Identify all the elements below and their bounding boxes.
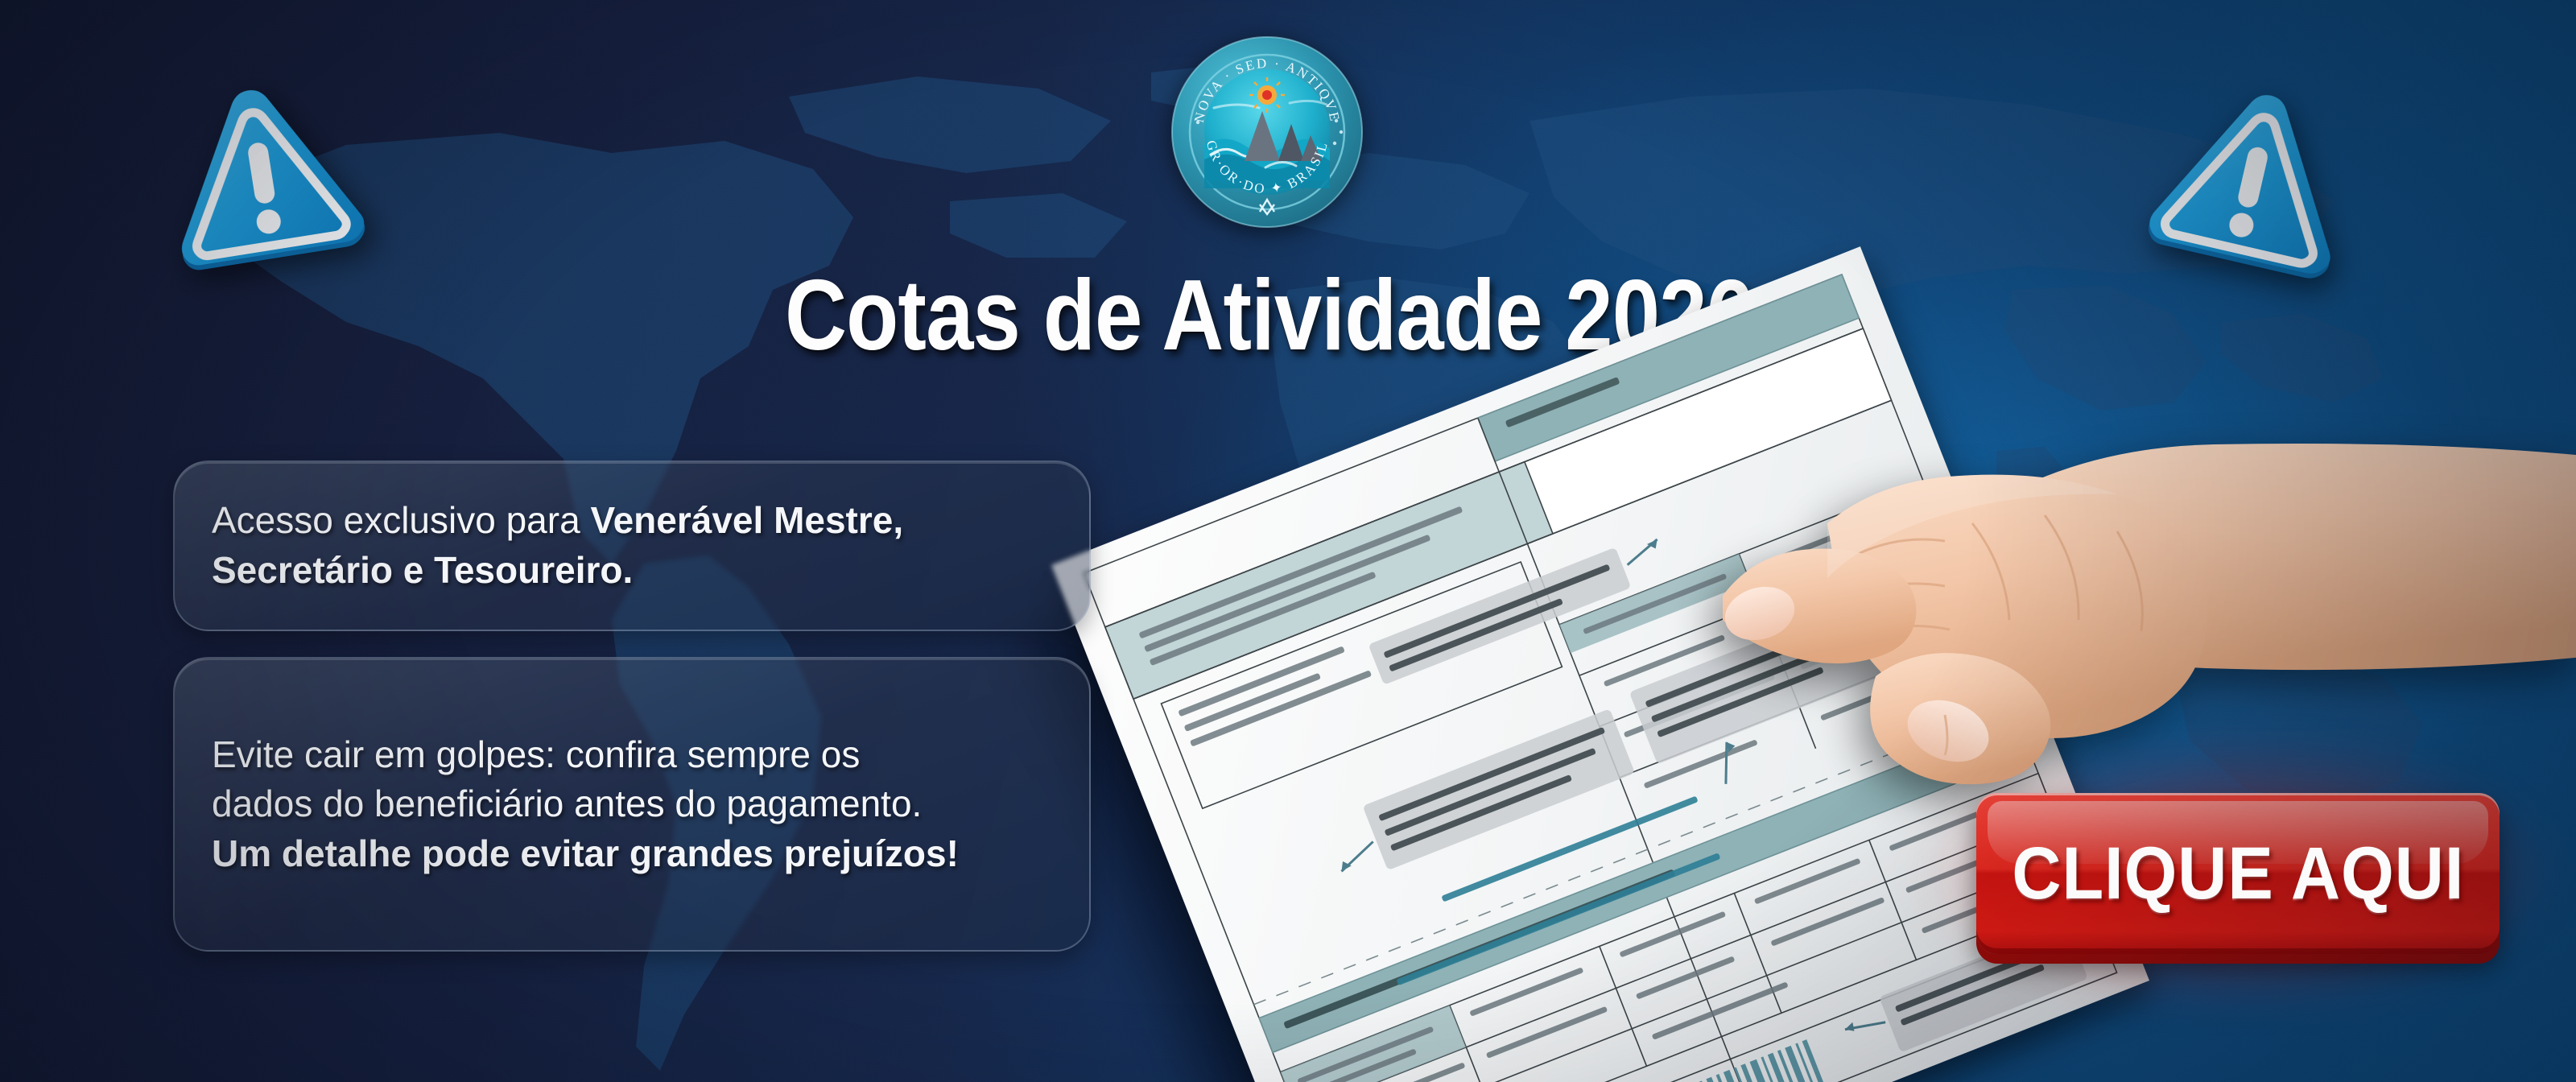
clique-aqui-button[interactable]: CLIQUE AQUI bbox=[1976, 793, 2500, 954]
card-scam-line2: dados do beneficiário antes do pagamento… bbox=[212, 783, 922, 824]
card-scam-text: Evite cair em golpes: confira sempre os … bbox=[212, 730, 959, 879]
info-card-scam-alert: Evite cair em golpes: confira sempre os … bbox=[173, 657, 1091, 952]
cta-label: CLIQUE AQUI bbox=[2012, 832, 2464, 916]
card-scam-line3: Um detalhe pode evitar grandes prejuízos… bbox=[212, 832, 959, 874]
warning-triangle-icon bbox=[148, 70, 376, 284]
card-access-regular: Acesso exclusivo para bbox=[212, 499, 590, 541]
page-title: Cotas de Atividade 2026 bbox=[785, 266, 1657, 365]
warning-triangle-icon bbox=[2132, 68, 2370, 294]
masonic-seal-logo: NOVA · SED · ANTIQVE GR·OR·DO ✦ BRASIL bbox=[1169, 34, 1365, 230]
card-scam-line1: Evite cair em golpes: confira sempre os bbox=[212, 733, 860, 775]
promo-banner: NOVA · SED · ANTIQVE GR·OR·DO ✦ BRASIL C… bbox=[0, 0, 2576, 1082]
card-access-text: Acesso exclusivo para Venerável Mestre, … bbox=[212, 496, 1052, 595]
info-card-access: Acesso exclusivo para Venerável Mestre, … bbox=[173, 460, 1091, 631]
hand-holding-document bbox=[1707, 394, 2576, 845]
